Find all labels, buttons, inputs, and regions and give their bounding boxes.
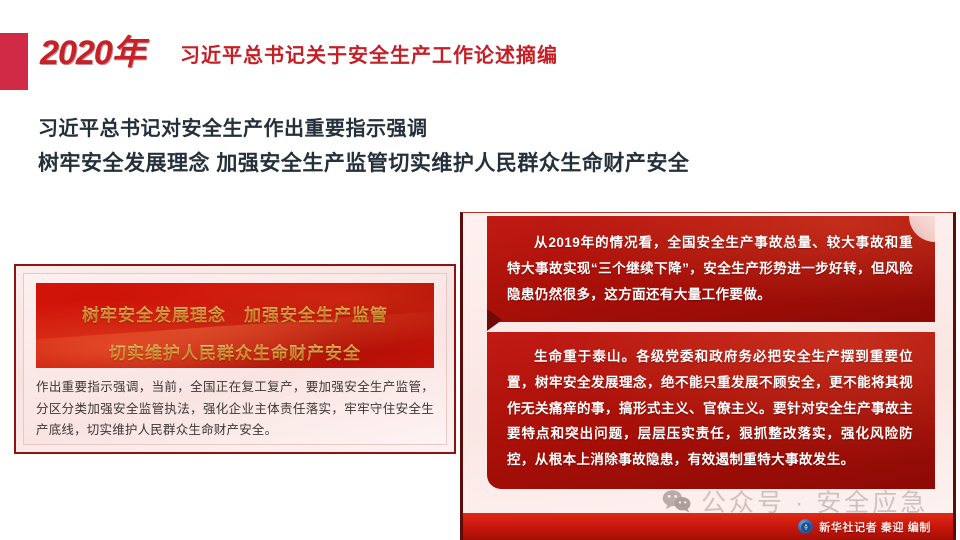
- banner-line-2: 切实维护人民群众生命财产安全: [36, 326, 434, 364]
- fold-notch-icon: [487, 309, 502, 331]
- left-card-inner: 树牢安全发展理念 加强安全生产监管 切实维护人民群众生命财产安全 作出重要指示强…: [23, 273, 447, 445]
- right-card-panel-1: 从2019年的情况看，全国安全生产事故总量、较大事故和重特大事故实现“三个继续下…: [487, 216, 935, 322]
- right-card-paragraph-1: 从2019年的情况看，全国安全生产事故总量、较大事故和重特大事故实现“三个继续下…: [507, 230, 913, 308]
- header-title: 习近平总书记关于安全生产工作论述摘编: [180, 46, 558, 66]
- subhead-line-1: 习近平总书记对安全生产作出重要指示强调: [38, 112, 428, 141]
- header-accent-block: [0, 33, 28, 90]
- xinhua-logo-icon: [798, 519, 813, 534]
- wechat-icon: [662, 489, 692, 513]
- left-card-banner: 树牢安全发展理念 加强安全生产监管 切实维护人民群众生命财产安全: [36, 283, 434, 368]
- slide-root: 2020年 习近平总书记关于安全生产工作论述摘编 习近平总书记对安全生产作出重要…: [0, 0, 960, 540]
- header-year: 2020年: [40, 36, 145, 70]
- subhead-line-2: 树牢安全发展理念 加强安全生产监管切实维护人民群众生命财产安全: [38, 147, 689, 177]
- left-card-body-text: 作出重要指示强调，当前，全国正在复工复产，要加强安全生产监管，分区分类加强安全监…: [36, 377, 434, 442]
- left-card: 树牢安全发展理念 加强安全生产监管 切实维护人民群众生命财产安全 作出重要指示强…: [14, 264, 456, 454]
- credit-bar: 新华社记者 秦迎 编制: [460, 513, 956, 540]
- right-card-panel-2: 生命重于泰山。各级党委和政府务必把安全生产摆到重要位置，树牢安全发展理念，绝不能…: [487, 332, 935, 490]
- credit-text: 新华社记者 秦迎 编制: [819, 519, 931, 535]
- banner-line-1: 树牢安全发展理念 加强安全生产监管: [36, 283, 434, 326]
- right-card-paragraph-2: 生命重于泰山。各级党委和政府务必把安全生产摆到重要位置，树牢安全发展理念，绝不能…: [507, 344, 913, 474]
